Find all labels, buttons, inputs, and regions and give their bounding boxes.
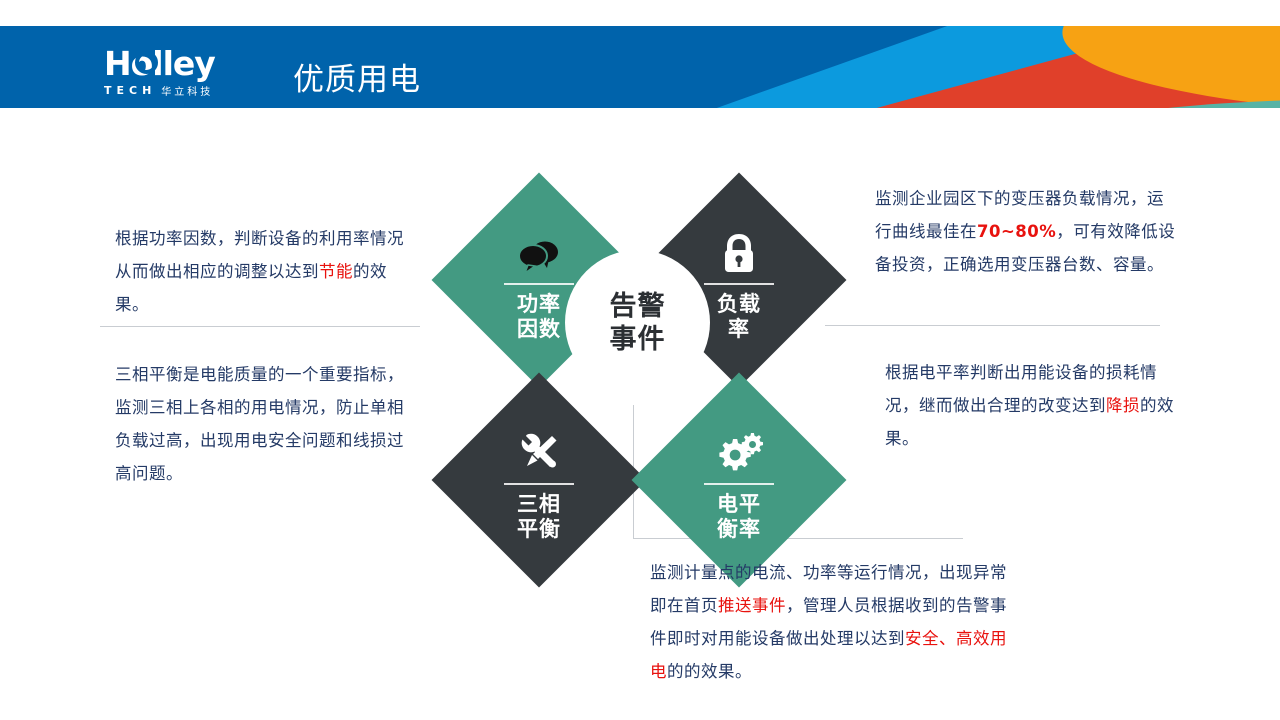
highlight-load-range: 70~80% [977, 222, 1056, 241]
page-title: 优质用电 [293, 54, 421, 99]
diagram-node-label-load-rate: 负载 率 [717, 292, 761, 342]
text-part: 三相平衡是电能质量的一个重要指标，监测三相上各相的用电情况，防止单相负载过高，出… [115, 365, 404, 483]
label-line-1: 功率 [517, 292, 561, 317]
logo-tech-label: TECH [104, 84, 156, 97]
diagram-node-three-phase-balance[interactable]: 三相 平衡 [432, 373, 647, 588]
node-rule [704, 283, 774, 285]
highlight-energy-saving: 节能 [319, 262, 353, 281]
node-rule [504, 483, 574, 485]
description-level-balance-rate: 根据电平率判断出用能设备的损耗情况，继而做出合理的改变达到降损的效果。 [885, 356, 1175, 455]
label-line-1: 负载 [717, 292, 761, 317]
center-label-line-2: 事件 [610, 323, 666, 356]
diagram-node-label-power-factor: 功率 因数 [517, 292, 561, 342]
logo-wordmark-text: Holley [104, 44, 215, 83]
logo-subline: TECH 华立科技 [104, 83, 264, 98]
gears-icon [715, 419, 763, 475]
label-line-1: 电平 [717, 492, 761, 517]
node-rule [704, 483, 774, 485]
label-line-2: 因数 [517, 317, 561, 342]
tools-icon [516, 419, 562, 475]
logo-wordmark: Holley [104, 47, 264, 80]
diagram-center-node: 告警 事件 [565, 250, 710, 395]
center-label-line-1: 告警 [610, 290, 666, 323]
highlight-loss-reduction: 降损 [1106, 396, 1140, 415]
diagram-center-label: 告警 事件 [610, 290, 666, 356]
divider-left [100, 326, 420, 327]
diagram-node-label-level-balance: 电平 衡率 [717, 492, 761, 542]
lock-icon [720, 219, 758, 275]
description-alarm-event: 监测计量点的电流、功率等运行情况，出现异常即在首页推送事件，管理人员根据收到的告… [650, 556, 1020, 688]
description-power-factor: 根据功率因数，判断设备的利用率情况从而做出相应的调整以达到节能的效果。 [115, 222, 415, 321]
label-line-2: 衡率 [717, 517, 761, 542]
logo-cn-label: 华立科技 [161, 83, 213, 98]
diagram-node-label-three-phase: 三相 平衡 [517, 492, 561, 542]
holley-logo: Holley TECH 华立科技 [104, 47, 264, 97]
text-part: 的的效果。 [667, 662, 752, 681]
logo-o-ring-icon [135, 51, 158, 74]
node-rule [504, 283, 574, 285]
speech-bubbles-icon [516, 219, 562, 275]
description-three-phase-balance: 三相平衡是电能质量的一个重要指标，监测三相上各相的用电情况，防止单相负载过高，出… [115, 358, 415, 490]
label-line-2: 率 [717, 317, 761, 342]
description-load-rate: 监测企业园区下的变压器负载情况，运行曲线最佳在70~80%，可有效降低设备投资，… [875, 182, 1180, 281]
highlight-push-event: 推送事件 [718, 596, 786, 615]
label-line-1: 三相 [517, 492, 561, 517]
label-line-2: 平衡 [517, 517, 561, 542]
divider-right [825, 325, 1160, 326]
